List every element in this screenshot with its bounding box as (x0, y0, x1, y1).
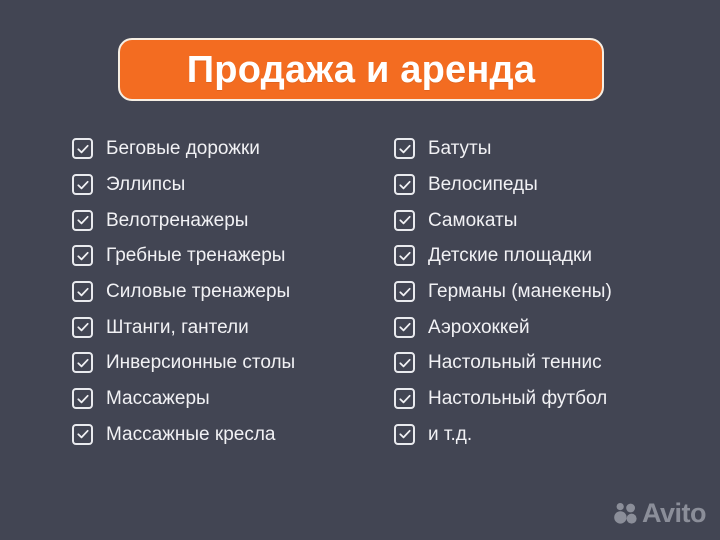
checklist: Беговые дорожкиЭллипсыВелотренажерыГребн… (0, 131, 720, 452)
checkbox[interactable] (394, 281, 415, 302)
checkbox[interactable] (72, 210, 93, 231)
checkmark-icon (75, 427, 90, 442)
avito-watermark: Avito (613, 500, 706, 527)
list-item-label: и т.д. (428, 425, 472, 444)
checkbox[interactable] (394, 174, 415, 195)
list-item[interactable]: Самокаты (394, 202, 709, 238)
avito-wordmark: Avito (642, 500, 706, 527)
avito-dots-logo-icon (613, 501, 639, 527)
list-item[interactable]: Батуты (394, 131, 709, 167)
list-item[interactable]: Инверсионные столы (72, 345, 382, 381)
list-item-label: Массажные кресла (106, 425, 275, 444)
checkmark-icon (397, 320, 412, 335)
checkmark-icon (397, 213, 412, 228)
list-item-label: Эллипсы (106, 175, 185, 194)
checkmark-icon (397, 177, 412, 192)
list-item-label: Самокаты (428, 211, 517, 230)
checkbox[interactable] (394, 210, 415, 231)
checkbox[interactable] (72, 388, 93, 409)
list-item[interactable]: Детские площадки (394, 238, 709, 274)
list-item[interactable]: Велосипеды (394, 167, 709, 203)
checkmark-icon (75, 391, 90, 406)
checkmark-icon (397, 284, 412, 299)
slide-canvas: Продажа и аренда Беговые дорожкиЭллипсыВ… (0, 0, 720, 540)
checkbox[interactable] (72, 352, 93, 373)
checkmark-icon (397, 391, 412, 406)
list-item-label: Массажеры (106, 389, 210, 408)
list-item[interactable]: Велотренажеры (72, 202, 382, 238)
checkbox[interactable] (394, 352, 415, 373)
list-item[interactable]: Силовые тренажеры (72, 274, 382, 310)
checkbox[interactable] (72, 317, 93, 338)
list-item[interactable]: Аэрохоккей (394, 309, 709, 345)
checkbox[interactable] (72, 245, 93, 266)
checkmark-icon (75, 320, 90, 335)
list-item[interactable]: Германы (манекены) (394, 274, 709, 310)
list-item[interactable]: Настольный футбол (394, 381, 709, 417)
list-item-label: Велосипеды (428, 175, 538, 194)
checkmark-icon (397, 355, 412, 370)
checkmark-icon (75, 213, 90, 228)
list-item-label: Аэрохоккей (428, 318, 530, 337)
checkbox[interactable] (72, 138, 93, 159)
checkmark-icon (75, 284, 90, 299)
checkmark-icon (75, 355, 90, 370)
list-item-label: Гребные тренажеры (106, 246, 285, 265)
list-item-label: Настольный теннис (428, 353, 602, 372)
page-title: Продажа и аренда (187, 51, 535, 89)
checkbox[interactable] (394, 245, 415, 266)
list-item-label: Беговые дорожки (106, 139, 260, 158)
checkbox[interactable] (72, 281, 93, 302)
list-item[interactable]: Массажные кресла (72, 417, 382, 453)
list-item[interactable]: Беговые дорожки (72, 131, 382, 167)
checkbox[interactable] (72, 424, 93, 445)
checkbox[interactable] (394, 138, 415, 159)
list-item-label: Силовые тренажеры (106, 282, 290, 301)
list-item[interactable]: Гребные тренажеры (72, 238, 382, 274)
list-item-label: Инверсионные столы (106, 353, 295, 372)
checkmark-icon (397, 248, 412, 263)
list-item[interactable]: Массажеры (72, 381, 382, 417)
checkbox[interactable] (394, 424, 415, 445)
checklist-column-right: БатутыВелосипедыСамокатыДетские площадки… (394, 131, 709, 452)
list-item-label: Батуты (428, 139, 491, 158)
list-item-label: Настольный футбол (428, 389, 607, 408)
list-item-label: Германы (манекены) (428, 282, 612, 301)
checkmark-icon (397, 141, 412, 156)
checkmark-icon (75, 248, 90, 263)
checkbox[interactable] (72, 174, 93, 195)
list-item-label: Штанги, гантели (106, 318, 249, 337)
checkmark-icon (75, 141, 90, 156)
list-item-label: Велотренажеры (106, 211, 248, 230)
list-item-label: Детские площадки (428, 246, 592, 265)
checkmark-icon (75, 177, 90, 192)
list-item[interactable]: Штанги, гантели (72, 309, 382, 345)
checkbox[interactable] (394, 388, 415, 409)
checkbox[interactable] (394, 317, 415, 338)
title-banner: Продажа и аренда (118, 38, 604, 101)
list-item[interactable]: Эллипсы (72, 167, 382, 203)
checklist-column-left: Беговые дорожкиЭллипсыВелотренажерыГребн… (72, 131, 382, 452)
list-item[interactable]: и т.д. (394, 417, 709, 453)
list-item[interactable]: Настольный теннис (394, 345, 709, 381)
checkmark-icon (397, 427, 412, 442)
